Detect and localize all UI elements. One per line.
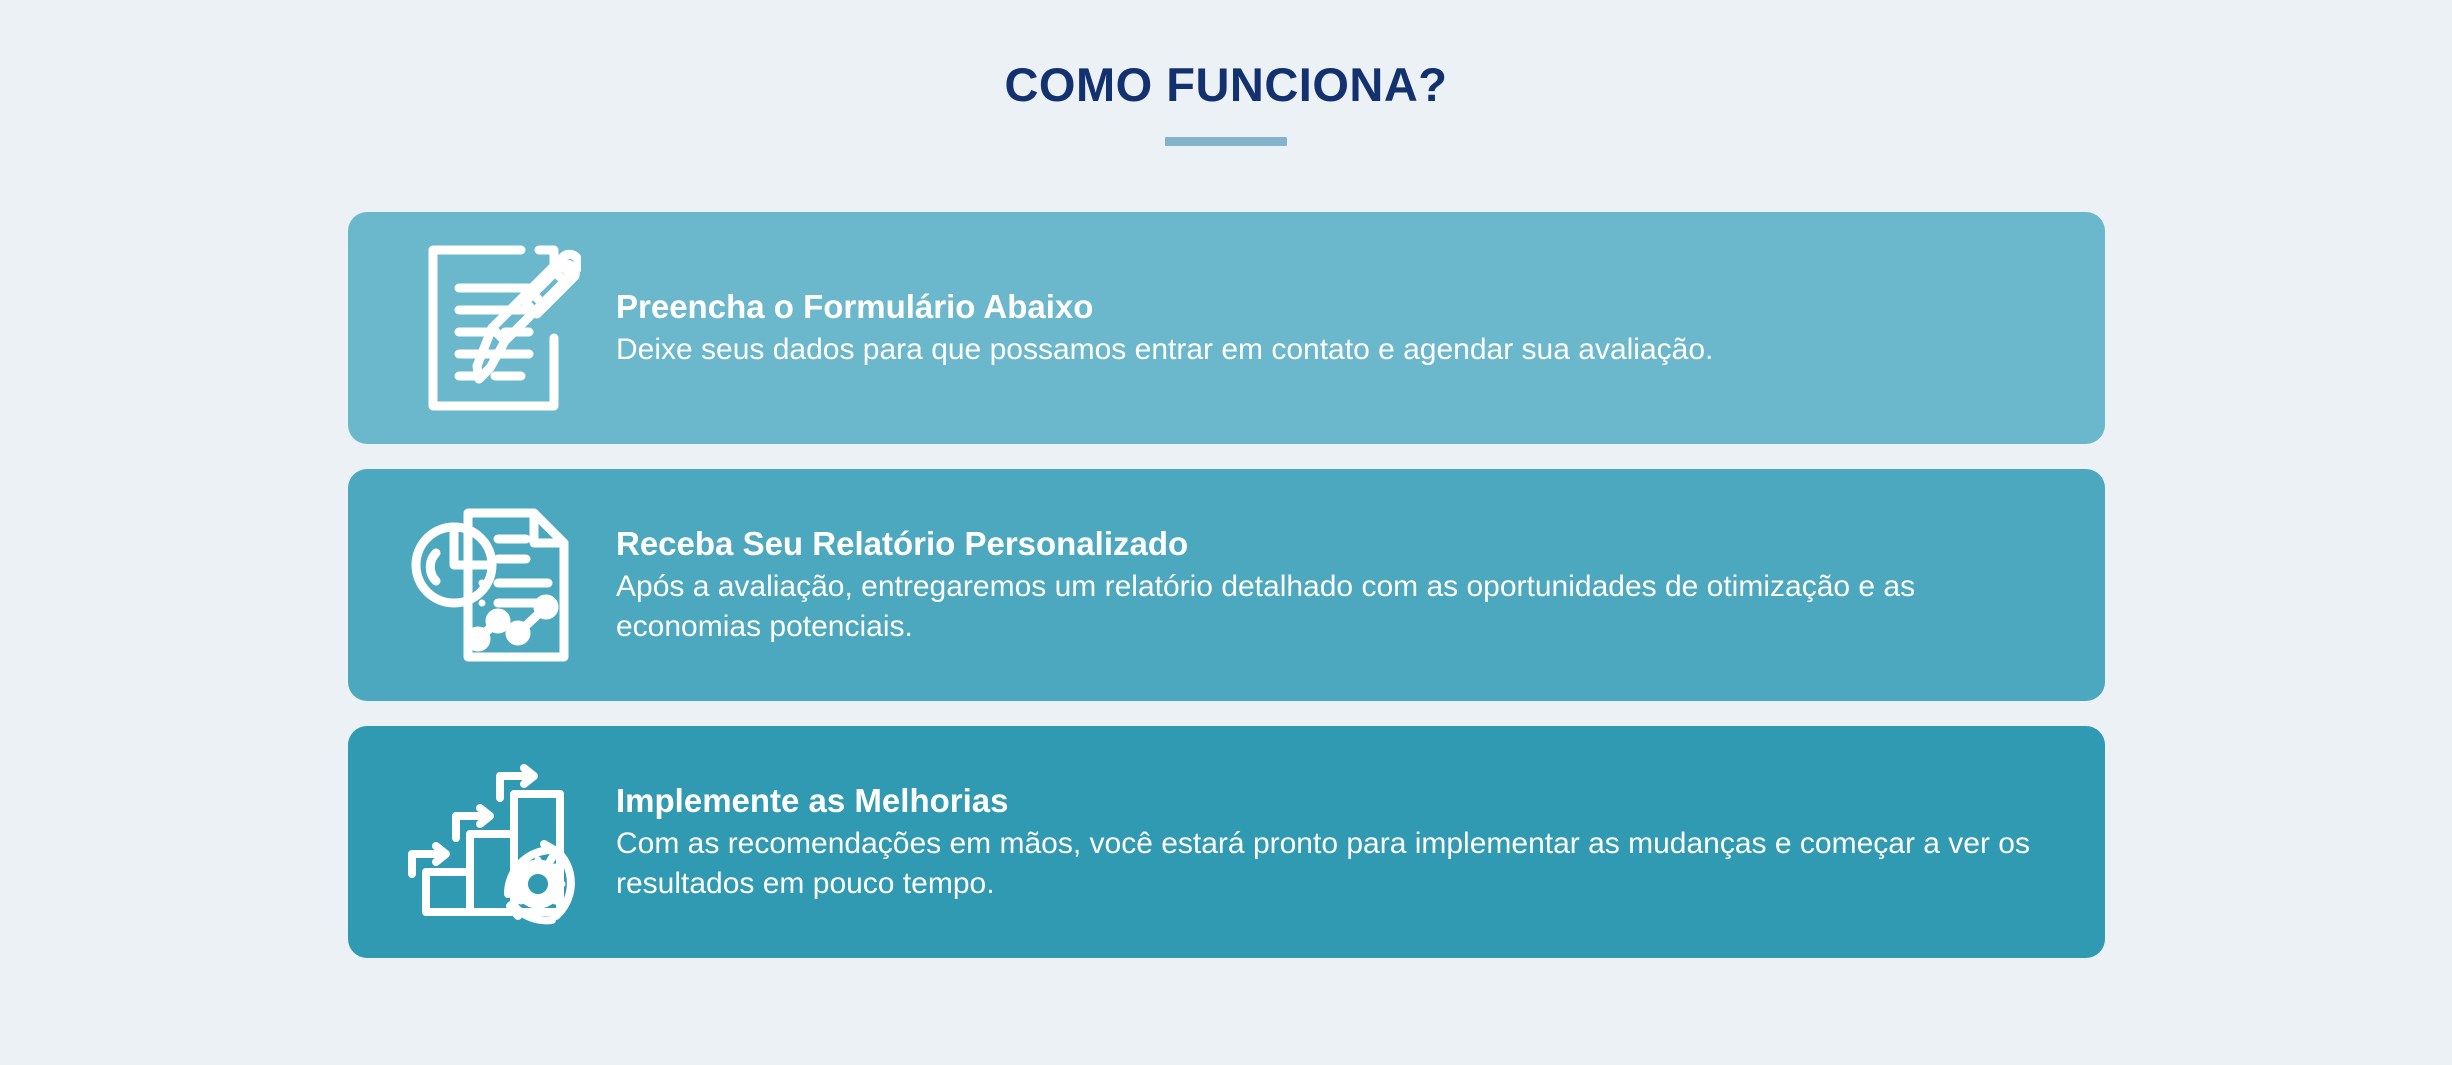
step-description: Após a avaliação, entregaremos um relató…	[616, 567, 2055, 647]
title-divider	[1165, 137, 1287, 146]
step-description: Deixe seus dados para que possamos entra…	[616, 330, 2055, 370]
report-chart-document-icon	[396, 495, 596, 675]
step-card-1[interactable]: Preencha o Formulário Abaixo Deixe seus …	[348, 212, 2105, 444]
step-title: Implemente as Melhorias	[616, 780, 2055, 822]
form-pencil-icon	[396, 238, 596, 418]
step-title: Preencha o Formulário Abaixo	[616, 286, 2055, 328]
how-it-works-section: COMO FUNCIONA?	[0, 0, 2452, 1065]
steps-list: Preencha o Formulário Abaixo Deixe seus …	[348, 212, 2105, 958]
step-description: Com as recomendações em mãos, você estar…	[616, 824, 2055, 904]
step-text-2: Receba Seu Relatório Personalizado Após …	[596, 523, 2065, 647]
step-card-3[interactable]: Implemente as Melhorias Com as recomenda…	[348, 726, 2105, 958]
page-title: COMO FUNCIONA?	[0, 60, 2452, 109]
step-card-2[interactable]: Receba Seu Relatório Personalizado Após …	[348, 469, 2105, 701]
growth-bars-gear-icon	[396, 752, 596, 932]
step-title: Receba Seu Relatório Personalizado	[616, 523, 2055, 565]
step-text-3: Implemente as Melhorias Com as recomenda…	[596, 780, 2065, 904]
step-text-1: Preencha o Formulário Abaixo Deixe seus …	[596, 286, 2065, 370]
section-header: COMO FUNCIONA?	[0, 0, 2452, 146]
